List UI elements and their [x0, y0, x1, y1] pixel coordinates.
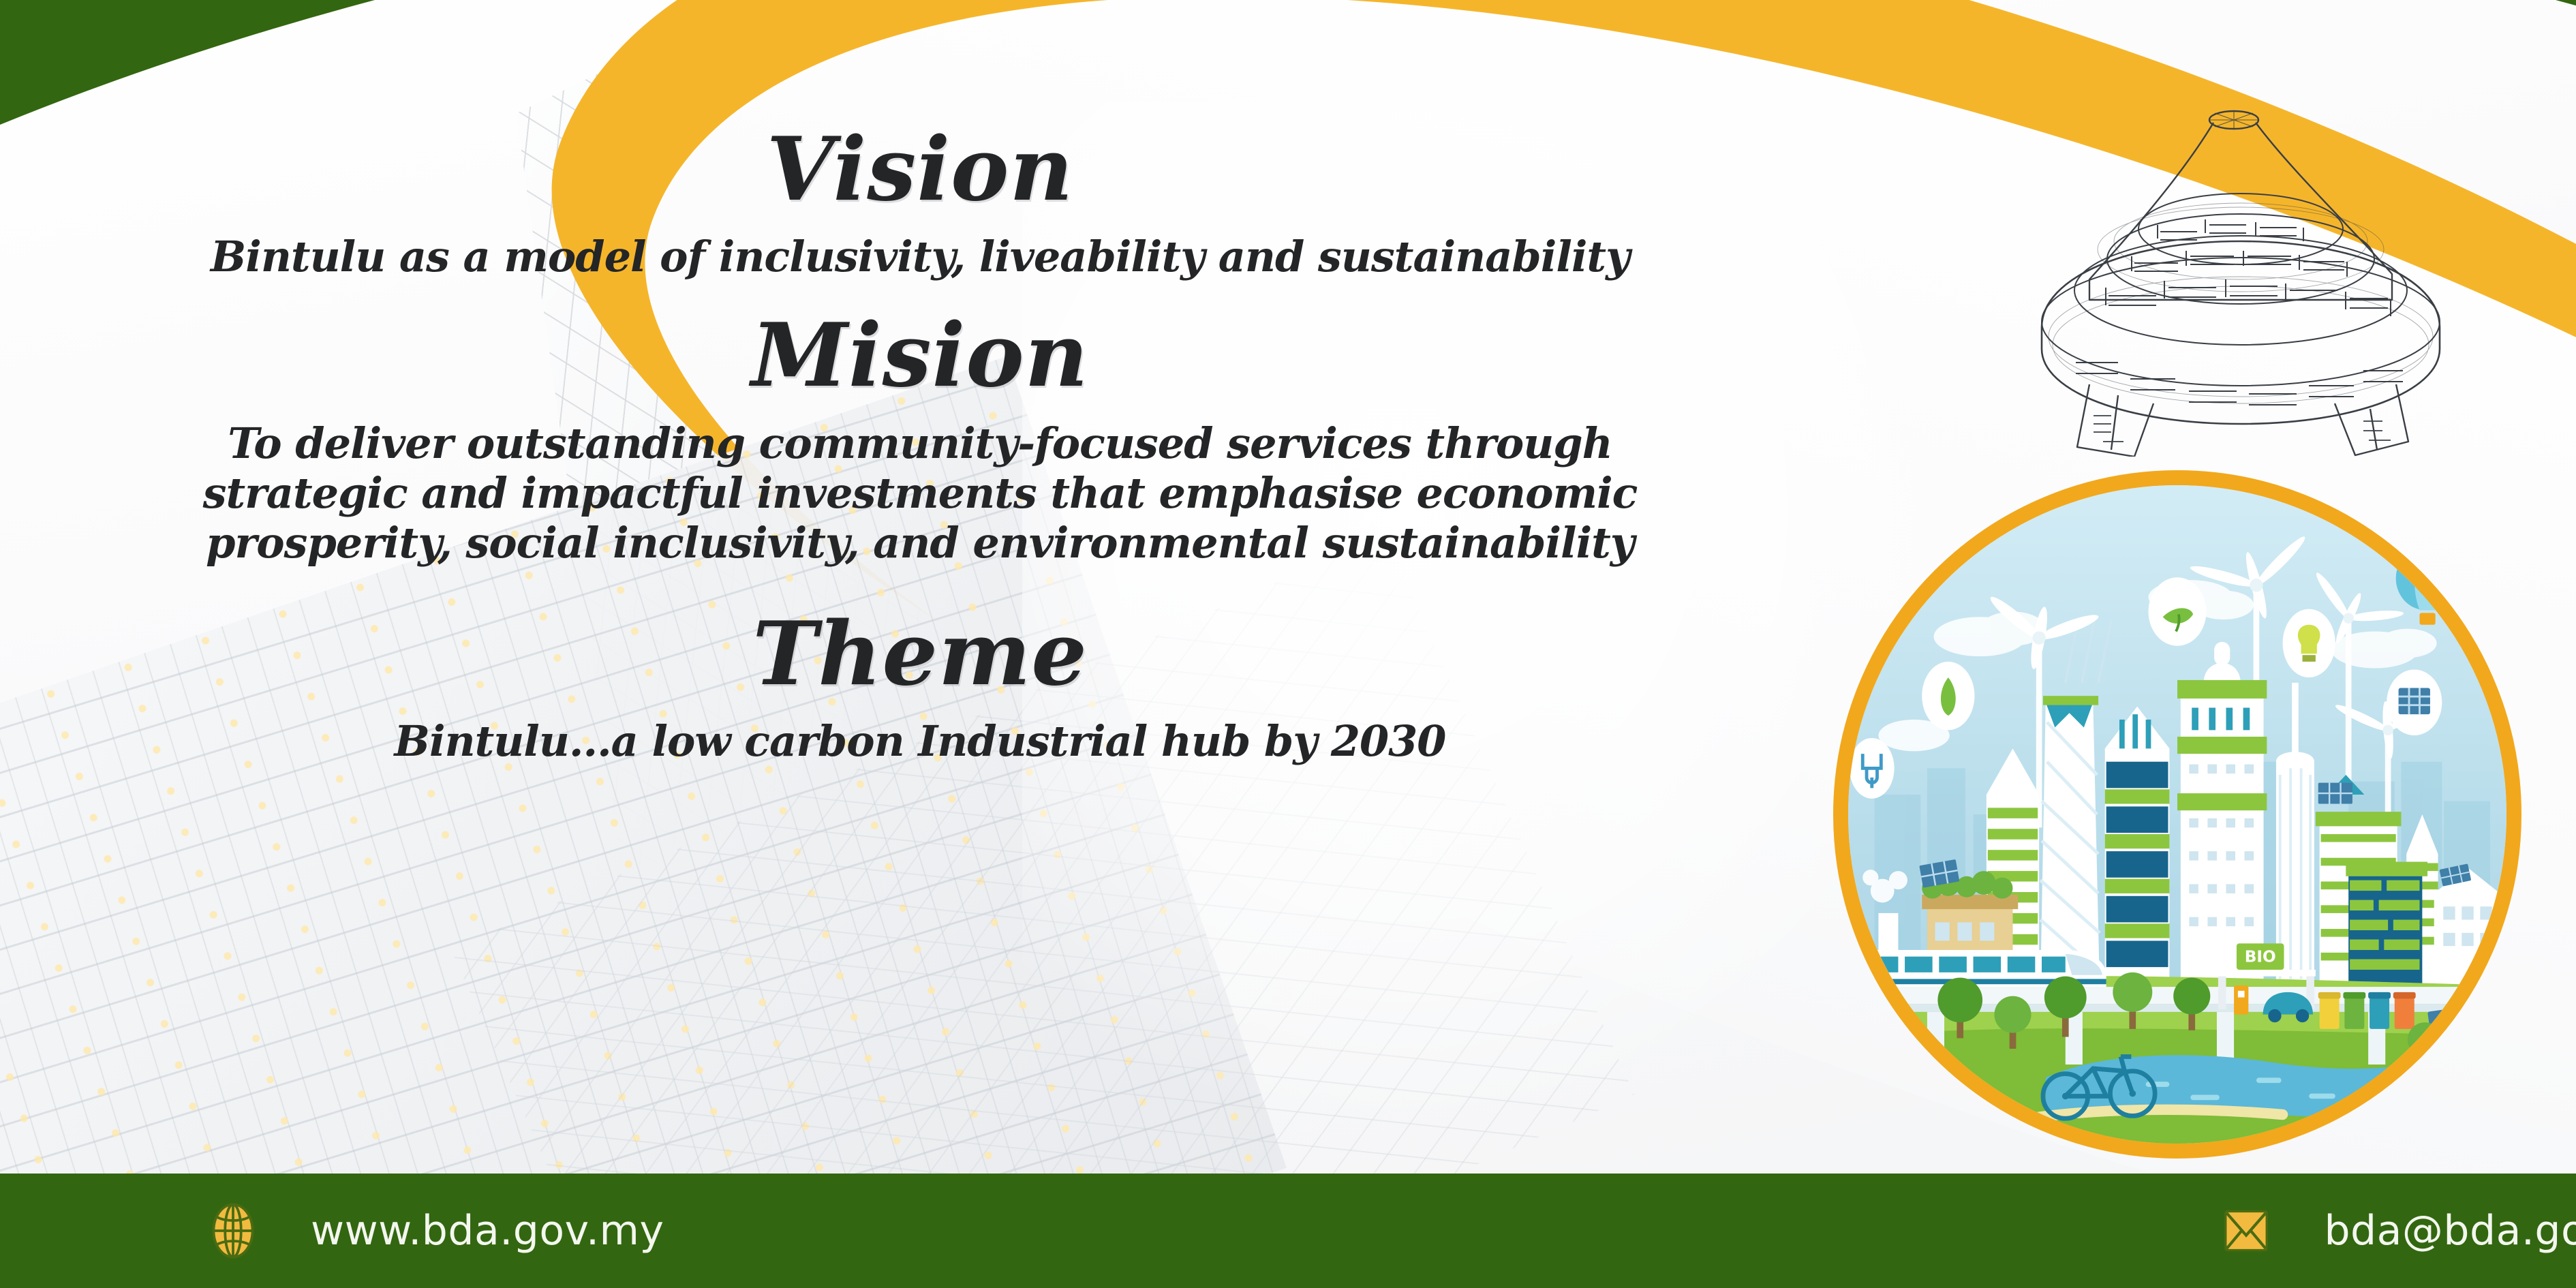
vision-heading: Vision	[0, 123, 1840, 217]
banner-root: BIO	[0, 0, 2576, 1288]
mission-line-2: strategic and impactful investments that…	[0, 468, 1840, 518]
footer-bar: www.bda.gov.my bda@bda.gov.my	[0, 1174, 2576, 1288]
mission-line-3: prosperity, social inclusivity, and envi…	[0, 518, 1840, 568]
conical-monument-line-art	[1956, 95, 2501, 457]
envelope-icon	[2218, 1202, 2275, 1259]
website-contact[interactable]: www.bda.gov.my	[204, 1202, 664, 1259]
eco-city-illustration: BIO	[1833, 470, 2521, 1159]
website-label: www.bda.gov.my	[311, 1207, 664, 1255]
vision-line-1: Bintulu as a model of inclusivity, livea…	[0, 232, 1840, 281]
mission-line-1: To deliver outstanding community-focused…	[0, 418, 1840, 468]
email-contact[interactable]: bda@bda.gov.my	[2218, 1202, 2576, 1259]
theme-heading: Theme	[0, 607, 1840, 701]
theme-line-1: Bintulu...a low carbon Industrial hub by…	[0, 716, 1840, 766]
globe-icon	[204, 1202, 262, 1259]
email-label: bda@bda.gov.my	[2324, 1207, 2576, 1255]
mission-heading: Mision	[0, 309, 1840, 403]
svg-text:BIO: BIO	[2245, 947, 2276, 966]
text-content-block: Vision Bintulu as a model of inclusivity…	[0, 123, 1840, 766]
